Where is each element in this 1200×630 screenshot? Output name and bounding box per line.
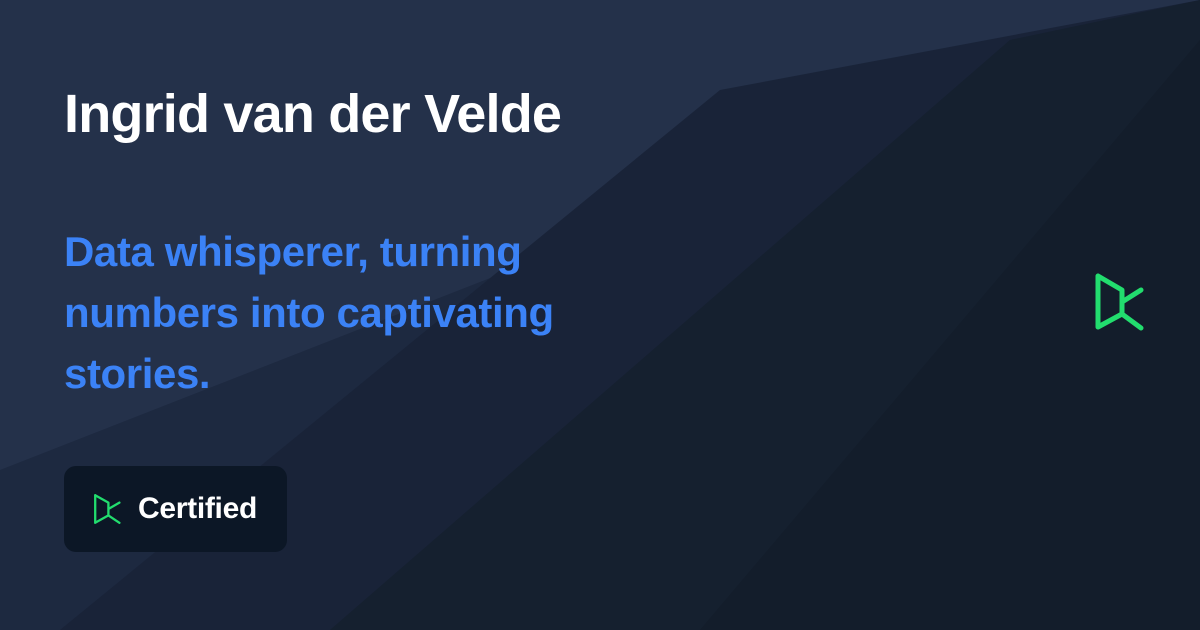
dk-monogram-icon xyxy=(92,493,122,525)
profile-tagline: Data whisperer, turning numbers into cap… xyxy=(64,222,664,405)
certified-badge-label: Certified xyxy=(138,492,257,526)
card-content: Ingrid van der Velde Data whisperer, tur… xyxy=(64,0,764,630)
brand-logo xyxy=(1092,270,1146,346)
certified-badge[interactable]: Certified xyxy=(64,466,287,552)
page-title: Ingrid van der Velde xyxy=(64,84,561,144)
dk-monogram-icon xyxy=(1092,270,1146,346)
og-card: Ingrid van der Velde Data whisperer, tur… xyxy=(0,0,1200,630)
